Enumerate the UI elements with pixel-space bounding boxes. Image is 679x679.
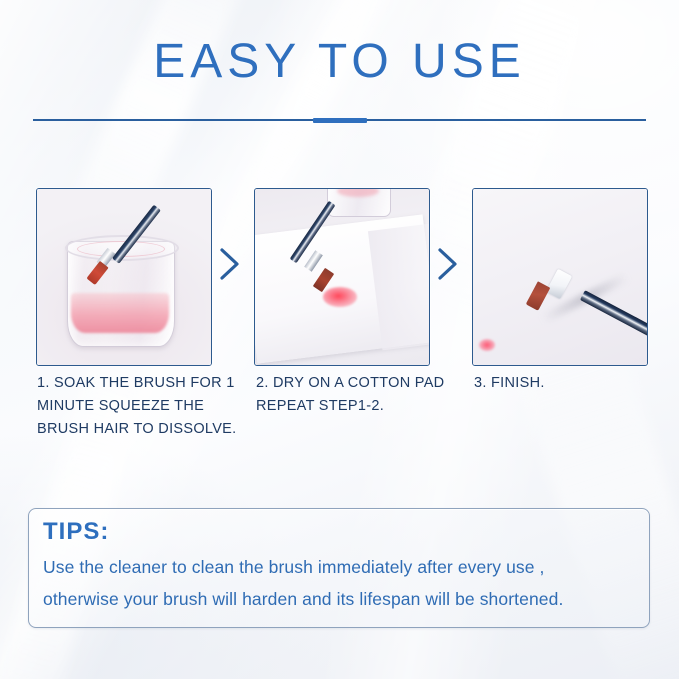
- step-image-2: [254, 188, 430, 366]
- pink-smear-mark: [323, 287, 357, 307]
- steps-image-row: [0, 188, 679, 366]
- step-image-3: [472, 188, 648, 366]
- chevron-right-icon: [432, 244, 462, 284]
- tips-line-2: otherwise your brush will harden and its…: [43, 589, 563, 610]
- chevron-right-icon: [214, 244, 244, 284]
- title-divider: [33, 118, 646, 121]
- step-caption-2: 2. DRY ON A COTTON PAD REPEAT STEP1-2.: [256, 372, 461, 418]
- pink-cleaner-liquid: [71, 293, 169, 333]
- step-arrow-2: [432, 244, 462, 284]
- tips-box: TIPS: Use the cleaner to clean the brush…: [28, 508, 650, 628]
- step-image-1: [36, 188, 212, 366]
- promo-infographic: EASY TO USE: [0, 0, 679, 679]
- tips-line-1: Use the cleaner to clean the brush immed…: [43, 557, 545, 578]
- step-caption-3: 3. FINISH.: [474, 372, 654, 395]
- step-caption-1: 1. SOAK THE BRUSH FOR 1 MINUTE SQUEEZE T…: [37, 372, 242, 441]
- step-arrow-1: [214, 244, 244, 284]
- tips-heading: TIPS:: [43, 518, 109, 546]
- title-divider-accent: [313, 118, 367, 123]
- page-title-text: EASY TO USE: [0, 38, 679, 86]
- pink-residue-dot: [479, 339, 495, 351]
- page-title: EASY TO USE: [0, 38, 679, 86]
